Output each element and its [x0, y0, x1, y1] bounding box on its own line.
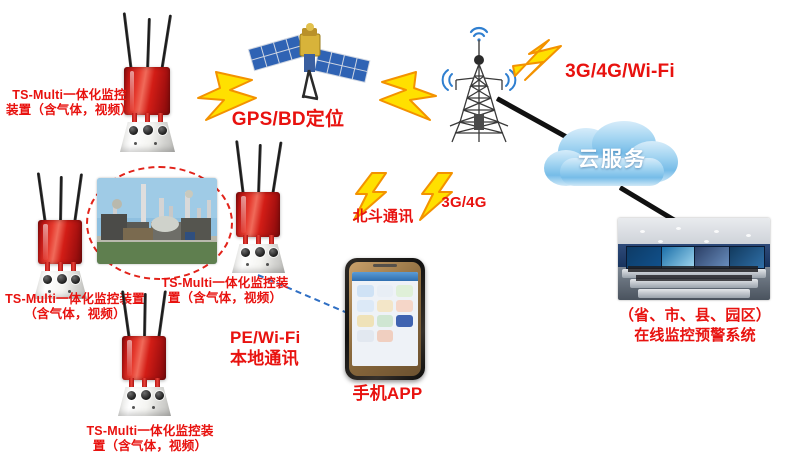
device-label-top-left: TS-Multi一体化监控 装置（含气体，视频） [2, 88, 137, 119]
device-label-bottom-left: TS-Multi一体化监控装 置（含气体，视频） [64, 424, 236, 455]
link-label-3g4gwifi: 3G/4G/Wi-Fi [540, 60, 700, 83]
cloud-label: 云服务 [540, 118, 685, 204]
monitoring-device-icon-center [224, 140, 302, 275]
monitoring-device-icon-bottom-left [110, 290, 188, 420]
satellite-icon [243, 6, 373, 111]
control-room-photo [618, 218, 770, 300]
monitoring-device-icon-mid-left [26, 172, 104, 302]
link-label-gps: GPS/BD定位 [218, 108, 358, 131]
monitoring-device-icon-top-left [110, 12, 188, 152]
industrial-plant-photo [97, 178, 217, 264]
link-label-beidou: 北斗通讯 [338, 208, 428, 226]
cloud-service-icon: 云服务 [540, 118, 685, 204]
link-label-local: PE/Wi-Fi 本地通讯 [230, 328, 360, 369]
control-room-label: （省、市、县、园区） 在线监控预警系统 [598, 306, 792, 347]
phone-label: 手机APP [340, 384, 435, 405]
link-label-3g4g: 3G/4G [424, 194, 504, 212]
diagram-canvas: 云服务 [0, 0, 797, 464]
lightning-bolt-icon-satellite-tower [376, 70, 448, 122]
